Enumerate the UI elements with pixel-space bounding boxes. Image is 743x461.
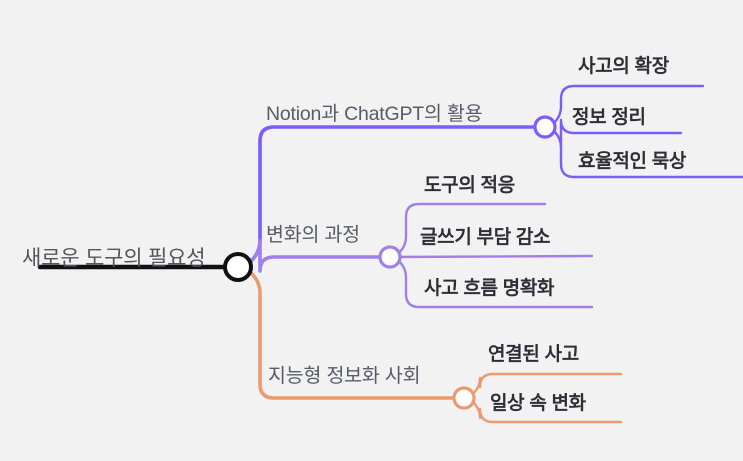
branch-1-label[interactable]: Notion과 ChatGPT의 활용 [266,105,482,125]
branch-1-node-circle[interactable] [535,117,555,137]
mindmap-canvas: 새로운 도구의 필요성Notion과 ChatGPT의 활용사고의 확장정보 정… [0,0,743,461]
branch-2-child-2-edge [390,256,592,257]
branch-1-child-1-label[interactable]: 사고의 확장 [578,57,669,76]
branch-2-child-3-label[interactable]: 사고 흐름 명확화 [424,279,554,298]
branch-3-child-2-label[interactable]: 일상 속 변화 [490,394,586,413]
branch-2-child-2-label[interactable]: 글쓰기 부담 감소 [420,228,550,247]
branch-1-child-2-label[interactable]: 정보 정리 [572,108,646,127]
branch-1-child-3-label[interactable]: 효율적인 묵상 [578,152,686,171]
branch-2-node-circle[interactable] [380,247,400,267]
root-node-label[interactable]: 새로운 도구의 필요성 [22,248,205,269]
branch-2-label[interactable]: 변화의 과정 [266,226,360,246]
branch-3-node-circle[interactable] [454,388,474,408]
branch-3-child-1-label[interactable]: 연결된 사고 [488,345,579,364]
branch-3-label[interactable]: 지능형 정보화 사회 [268,367,420,387]
root-node-circle[interactable] [225,254,251,280]
branch-2-child-1-label[interactable]: 도구의 적응 [424,176,515,195]
